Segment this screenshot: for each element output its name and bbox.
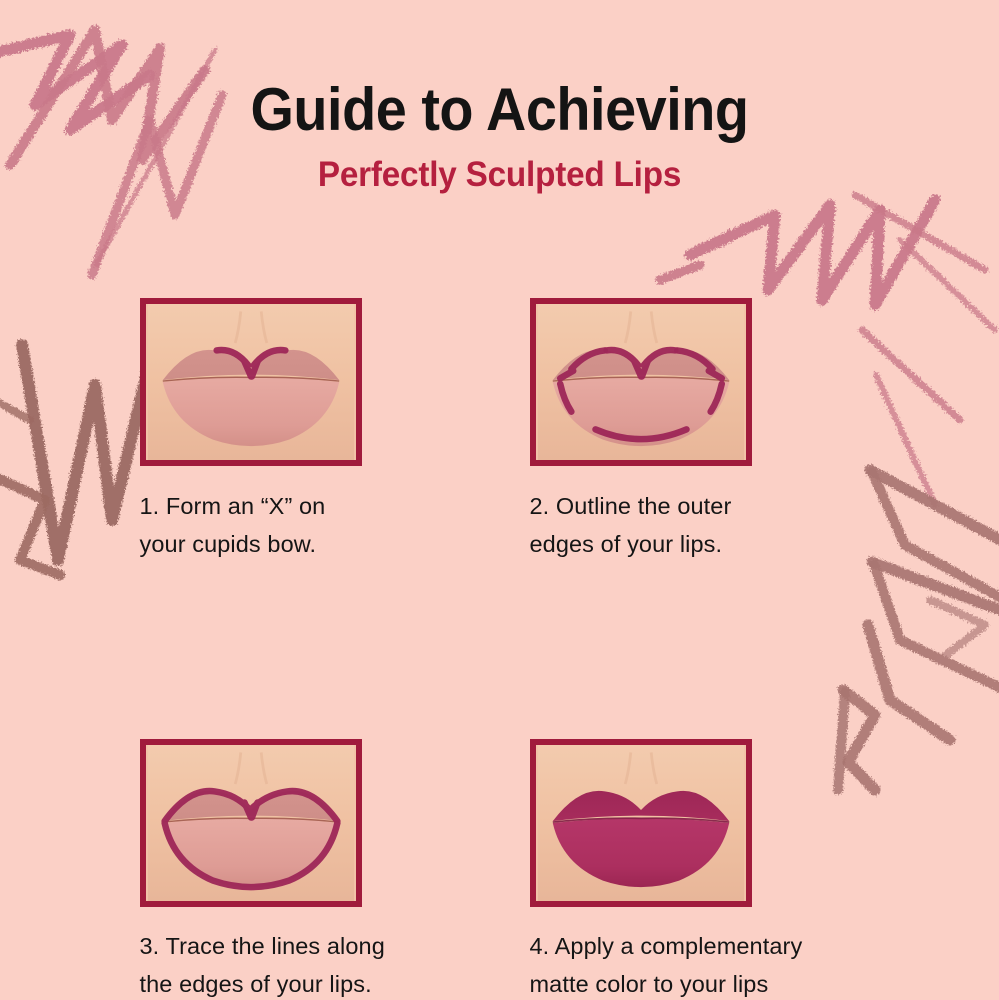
page-subtitle: Perfectly Sculpted Lips [25,155,974,195]
step-1-caption: 1. Form an “X” on your cupids bow. [140,487,470,563]
step-3: 3. Trace the lines along the edges of yo… [110,739,500,1000]
row-spacer-right [500,563,890,739]
step-3-image-frame [140,739,362,907]
steps-grid: 1. Form an “X” on your cupids bow. [0,298,999,1000]
step-4-image-frame [530,739,752,907]
header-block: Guide to Achieving Perfectly Sculpted Li… [0,78,999,195]
lips-step-4-illustration [536,745,746,901]
step-3-caption-line1: 3. Trace the lines along [140,927,470,965]
step-2-caption-line2: edges of your lips. [530,525,860,563]
lips-step-1-illustration [146,304,356,460]
lips-step-2-illustration [536,304,746,460]
step-4-caption-line1: 4. Apply a complementary [530,927,860,965]
lips-step-3-illustration [146,745,356,901]
step-1: 1. Form an “X” on your cupids bow. [110,298,500,563]
step-3-caption-line2: the edges of your lips. [140,965,470,1000]
step-1-caption-line1: 1. Form an “X” on [140,487,470,525]
step-4-caption-line2: matte color to your lips [530,965,860,1000]
page-title: Guide to Achieving [35,78,964,141]
step-1-caption-line2: your cupids bow. [140,525,470,563]
step-2: 2. Outline the outer edges of your lips. [500,298,890,563]
step-2-caption-line1: 2. Outline the outer [530,487,860,525]
step-2-caption: 2. Outline the outer edges of your lips. [530,487,860,563]
step-2-image-frame [530,298,752,466]
row-spacer-left [110,563,500,739]
step-1-image-frame [140,298,362,466]
step-3-caption: 3. Trace the lines along the edges of yo… [140,927,470,1000]
lip-guide-infographic: Guide to Achieving Perfectly Sculpted Li… [0,0,999,1000]
step-4: 4. Apply a complementary matte color to … [500,739,890,1000]
step-4-caption: 4. Apply a complementary matte color to … [530,927,860,1000]
